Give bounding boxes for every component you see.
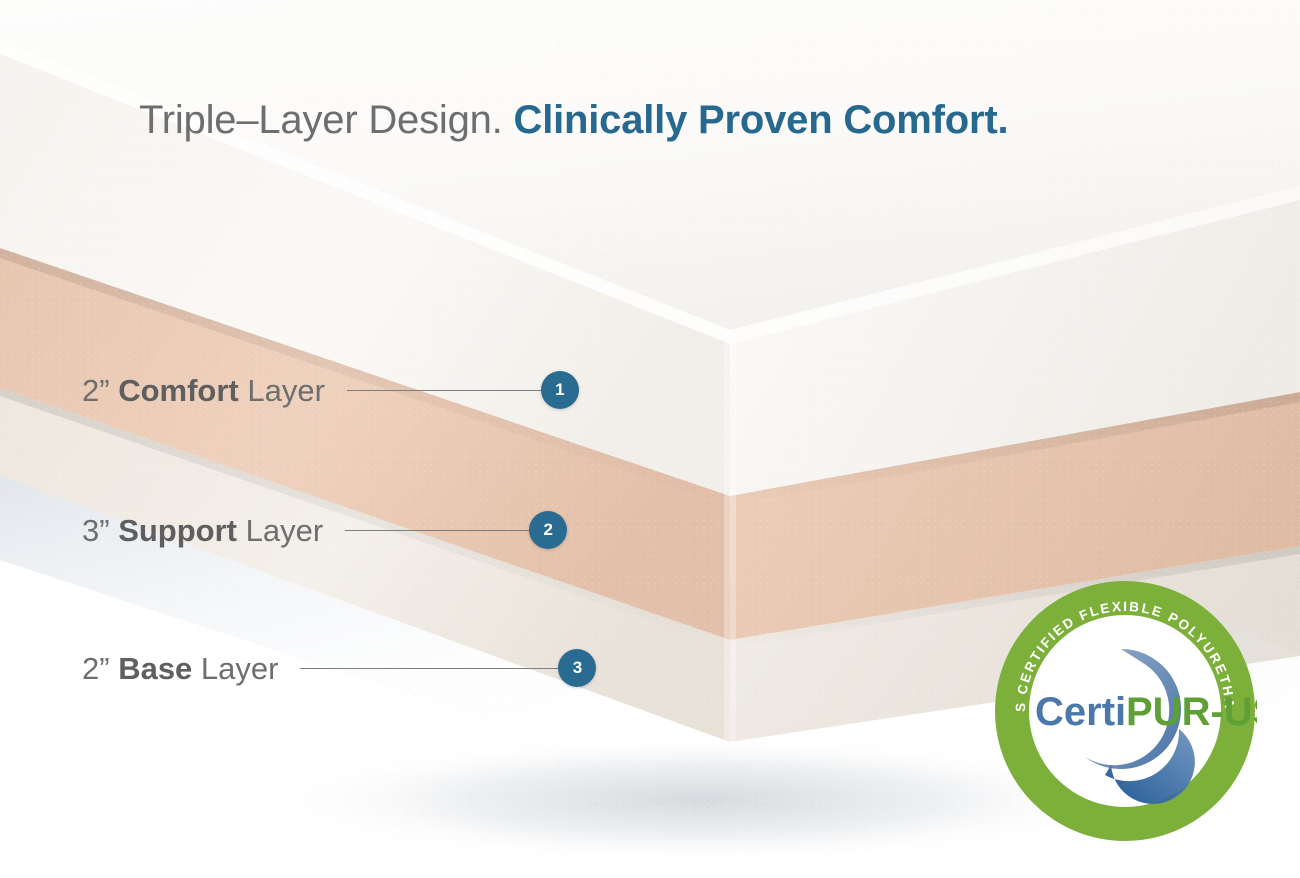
leader-line-2 <box>345 530 539 531</box>
badge-1[interactable]: 1 <box>541 371 579 409</box>
headline-plain: Triple–Layer Design. <box>139 98 503 142</box>
callout-thickness-3: 2” <box>82 651 118 686</box>
callout-name-1: Comfort <box>118 373 239 408</box>
callout-thickness-1: 2” <box>82 373 118 408</box>
callout-name-3: Base <box>118 651 192 686</box>
callout-label-2: 3” Support Layer <box>82 515 323 546</box>
callout-support-layer: 3” Support Layer 2 <box>82 510 567 550</box>
badge-2[interactable]: 2 <box>529 511 567 549</box>
callout-name-2: Support <box>118 513 237 548</box>
headline-accent: Clinically Proven Comfort. <box>514 98 1009 142</box>
callout-comfort-layer: 2” Comfort Layer 1 <box>82 370 579 410</box>
certipur-us-seal-graphic: CONTAINS CERTIFIED FLEXIBLE POLYURETHANE… <box>993 579 1257 843</box>
certipur-us-seal[interactable]: CONTAINS CERTIFIED FLEXIBLE POLYURETHANE… <box>993 579 1257 843</box>
infographic-canvas: Triple–Layer Design. Clinically Proven C… <box>0 0 1300 878</box>
callout-thickness-2: 3” <box>82 513 118 548</box>
callout-base-layer: 2” Base Layer 3 <box>82 648 596 688</box>
callout-suffix-2: Layer <box>237 513 323 548</box>
page-title: Triple–Layer Design. Clinically Proven C… <box>139 100 1008 140</box>
callout-label-1: 2” Comfort Layer <box>82 375 325 406</box>
callout-suffix-3: Layer <box>192 651 278 686</box>
seal-wordmark: Certi PUR-US ® <box>1035 690 1257 734</box>
seal-brand-second: PUR-US <box>1126 690 1257 734</box>
corner-crease <box>724 330 736 742</box>
callout-label-3: 2” Base Layer <box>82 653 278 684</box>
callout-suffix-1: Layer <box>239 373 325 408</box>
badge-3[interactable]: 3 <box>558 649 596 687</box>
seal-brand-first: Certi <box>1035 690 1126 734</box>
seal-registered-mark: ® <box>1222 693 1232 708</box>
leader-line-1 <box>347 390 551 391</box>
leader-line-3 <box>300 668 568 669</box>
